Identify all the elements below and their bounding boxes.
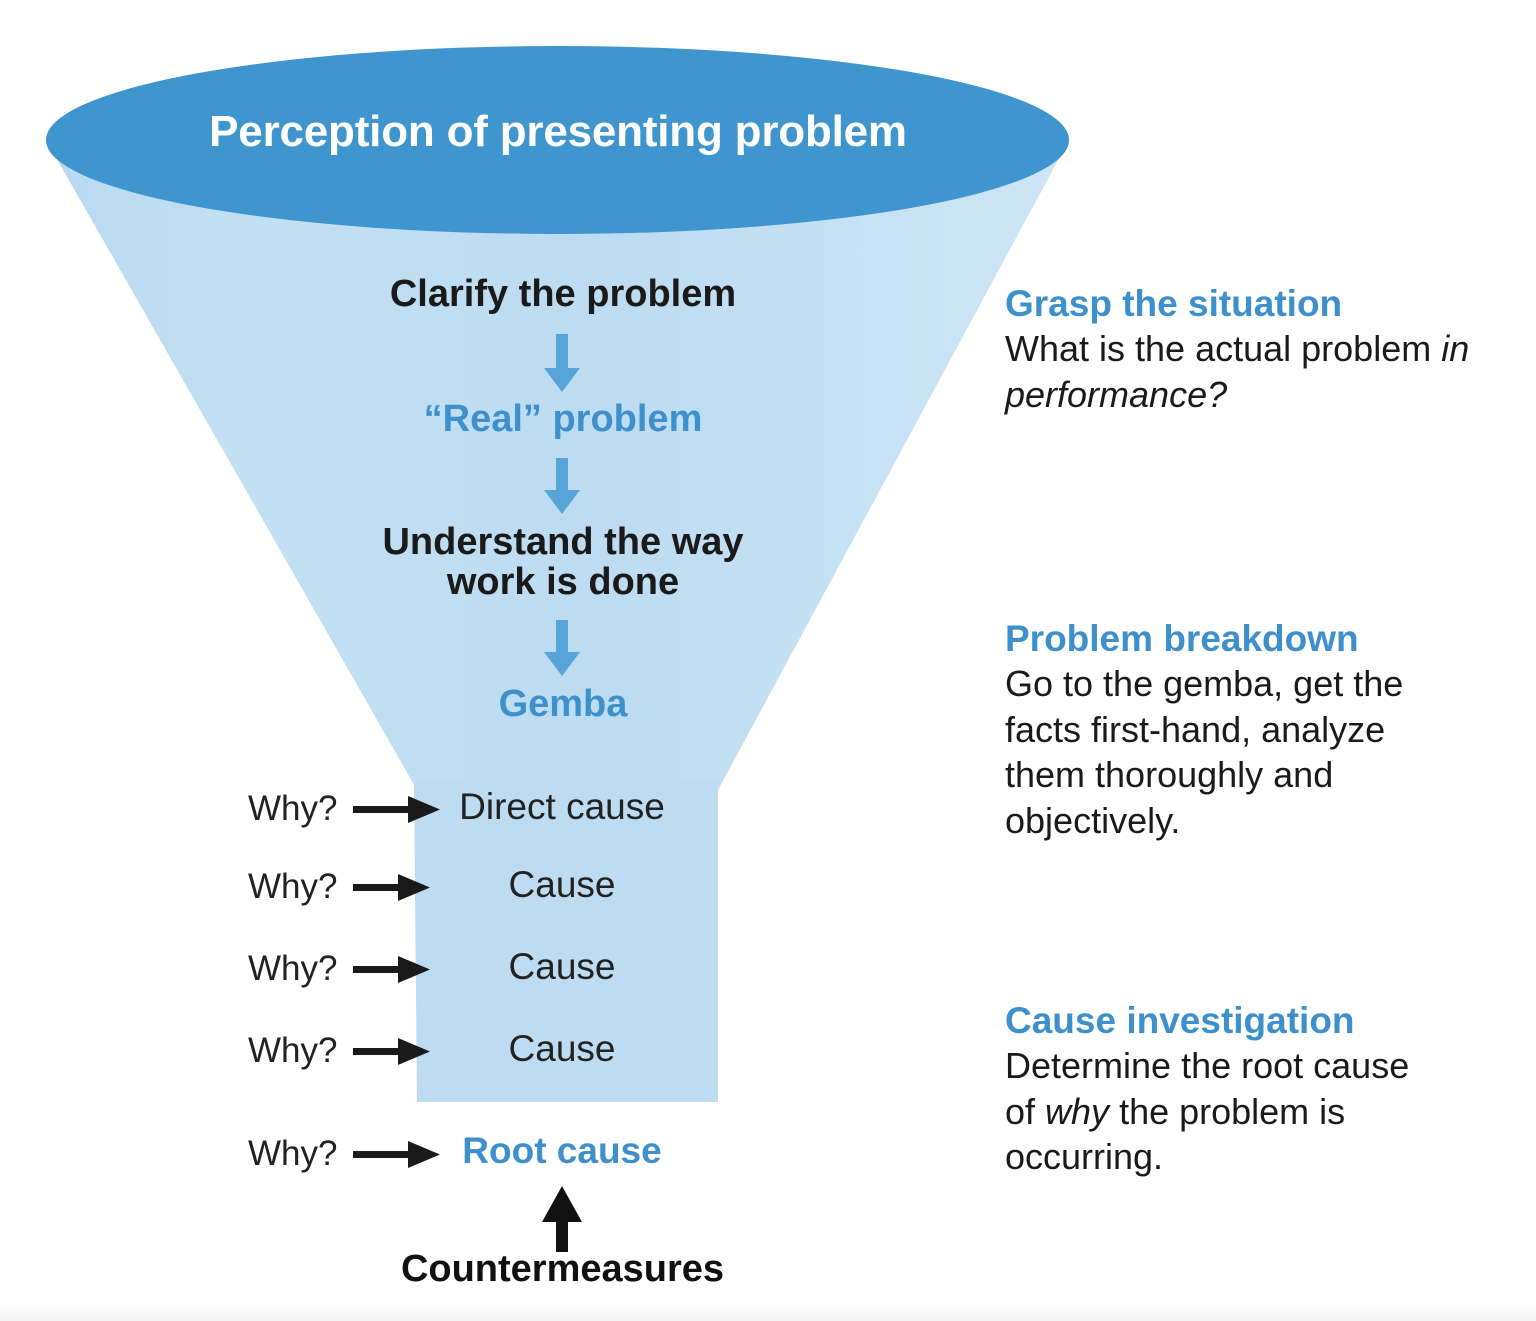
note-body-investigation: Determine the root cause of why the prob…: [1005, 1043, 1435, 1179]
funnel-step-clarify: Clarify the problem: [318, 274, 808, 314]
note-heading-breakdown: Problem breakdown: [1005, 618, 1475, 659]
why-label-5: Why?: [248, 1134, 337, 1174]
funnel-title: Perception of presenting problem: [46, 108, 1070, 156]
note-text-plain: Go to the gemba, get the facts first-han…: [1005, 663, 1403, 840]
why-label-4: Why?: [248, 1031, 337, 1071]
diagram-canvas: Perception of presenting problem Clarify…: [0, 0, 1536, 1321]
note-heading-investigation: Cause investigation: [1005, 1000, 1435, 1041]
cause-label-4: Cause: [402, 1028, 722, 1070]
note-problem-breakdown: Problem breakdown Go to the gemba, get t…: [1005, 618, 1475, 843]
note-grasp-the-situation: Grasp the situation What is the actual p…: [1005, 283, 1515, 417]
note-body-breakdown: Go to the gemba, get the facts first-han…: [1005, 661, 1475, 842]
note-text-plain: What is the actual problem: [1005, 328, 1431, 369]
note-heading-grasp: Grasp the situation: [1005, 283, 1515, 324]
why-label-1: Why?: [248, 789, 337, 829]
why-label-2: Why?: [248, 867, 337, 907]
note-body-grasp: What is the actual problem in performanc…: [1005, 326, 1515, 417]
cause-label-3: Cause: [402, 946, 722, 988]
arrow-up-icon: [542, 1186, 582, 1252]
funnel-step-real-problem: “Real” problem: [318, 399, 808, 439]
funnel-step-gemba: Gemba: [318, 684, 808, 724]
note-cause-investigation: Cause investigation Determine the root c…: [1005, 1000, 1435, 1180]
why-label-3: Why?: [248, 949, 337, 989]
bottom-band: [0, 1305, 1536, 1321]
funnel-step-understand-work: Understand the way work is done: [318, 522, 808, 603]
cause-label-root-cause: Root cause: [402, 1130, 722, 1172]
cause-label-direct-cause: Direct cause: [402, 786, 722, 828]
note-text-italic: why: [1045, 1091, 1109, 1132]
cause-label-2: Cause: [402, 864, 722, 906]
countermeasures-label: Countermeasures: [310, 1248, 815, 1291]
